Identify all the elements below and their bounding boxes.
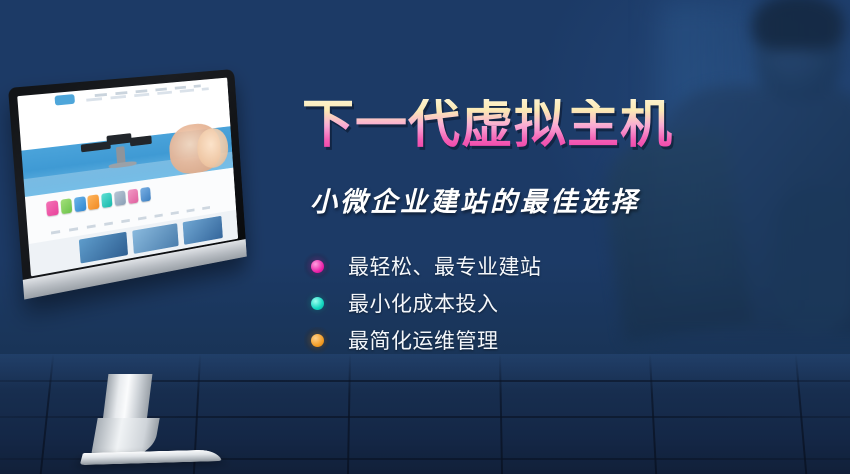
imac-display-body — [8, 69, 247, 300]
list-item: 最小化成本投入 — [304, 285, 542, 321]
person-hair — [752, 0, 844, 50]
imac-computer — [8, 88, 300, 398]
list-item: 最轻松、最专业建站 — [304, 248, 542, 284]
list-item-label: 最简化运维管理 — [348, 325, 499, 355]
person-arm — [774, 184, 850, 334]
list-item: 最简化运维管理 — [304, 322, 542, 358]
bullet-dot-icon — [304, 253, 330, 279]
website-icon — [127, 188, 138, 203]
feature-list: 最轻松、最专业建站 最小化成本投入 最简化运维管理 — [304, 248, 542, 359]
website-icon — [46, 200, 58, 216]
website-icon — [74, 196, 86, 212]
website-icon — [101, 192, 113, 208]
website-logo — [54, 94, 75, 106]
list-item-label: 最轻松、最专业建站 — [348, 251, 542, 281]
person-shoulder — [597, 126, 754, 342]
website-icon — [88, 194, 100, 210]
website-icon — [60, 198, 72, 214]
hero-banner: 下一代虚拟主机 小微企业建站的最佳选择 最轻松、最专业建站 最小化成本投入 最简… — [0, 0, 850, 474]
page-subtitle: 小微企业建站的最佳选择 — [310, 180, 640, 219]
website-icon — [114, 190, 126, 206]
website-icon — [140, 187, 151, 202]
blurred-person-silhouette — [630, 0, 850, 324]
page-title: 下一代虚拟主机 — [302, 99, 673, 151]
bullet-dot-icon — [304, 290, 330, 316]
bullet-dot-icon — [304, 327, 330, 353]
list-item-label: 最小化成本投入 — [348, 288, 499, 318]
